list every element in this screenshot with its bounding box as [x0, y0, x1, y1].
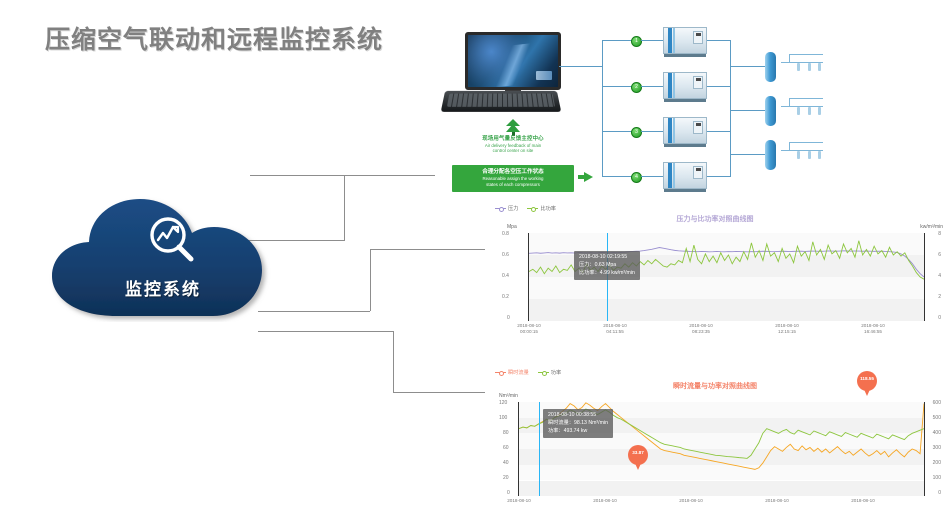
y-tick: 100	[499, 415, 507, 421]
tooltip-line-2: 功率：493.74 kw	[548, 428, 608, 436]
x-tick-time: 16:46:55	[843, 329, 903, 335]
strategy-en-2: states of each compressors	[452, 182, 574, 188]
legend-marker-icon	[495, 208, 506, 209]
pipe-riser	[789, 142, 790, 151]
air-tank	[765, 140, 776, 170]
compressor-unit[interactable]	[663, 162, 707, 192]
legend-marker-icon	[527, 208, 538, 209]
y-tick: 80	[503, 430, 509, 436]
x-tick-time: 12:15:15	[757, 329, 817, 335]
compressor-base	[664, 189, 706, 192]
status-node-1[interactable]: 1	[631, 36, 642, 47]
flow-chart-legend[interactable]: 瞬时流量 功率	[495, 369, 561, 376]
collector-to-tank-1	[730, 66, 766, 67]
pin-label: 33.87	[628, 450, 648, 455]
monitor-screen	[465, 32, 561, 90]
monitor-caption-en-2: control center on site	[452, 148, 574, 154]
y2-tick: 2	[938, 294, 941, 300]
flow-marker-min[interactable]: 33.87	[628, 445, 648, 471]
x-tick: 2018-08-10	[575, 498, 635, 504]
main-vertical-bus	[602, 40, 603, 177]
legend-item-power[interactable]: 功率	[538, 369, 561, 376]
collector-stub-2	[707, 86, 731, 87]
node-to-compressor-4	[641, 176, 663, 177]
air-tank	[765, 96, 776, 126]
pipe-drop	[818, 107, 821, 115]
y2-tick: 8	[938, 231, 941, 237]
connector-line-bottom-upper	[258, 331, 393, 332]
y2-tick: 0	[938, 315, 941, 321]
collector-vertical-bus	[730, 40, 731, 177]
flow-chart-title: 瞬时流量与功率对照曲线图	[605, 381, 825, 391]
tooltip-line-2: 比功率：4.99 kw/m³/min	[579, 270, 635, 278]
pin-label: 118.55	[857, 376, 877, 381]
y2-tick: 100	[933, 475, 941, 481]
magnifier-chart-icon	[146, 214, 198, 266]
air-tank	[765, 52, 776, 82]
compressor-stripe-light	[673, 163, 675, 188]
y2-tick: 6	[938, 252, 941, 258]
monitor-caption-zh: 现场用气量反馈主控中心	[452, 136, 574, 143]
keyboard	[441, 91, 562, 112]
tooltip-line-1: 瞬时流量：98.13 Nm³/min	[548, 420, 608, 428]
y2-tick: 500	[933, 415, 941, 421]
node-to-compressor-2	[641, 86, 663, 87]
connector-line-bottom-riser	[393, 331, 394, 392]
y-tick: 120	[499, 400, 507, 406]
flow-cursor-line[interactable]	[539, 402, 540, 496]
connector-line-bottom	[393, 392, 488, 393]
compressor-stripe-light	[673, 73, 675, 98]
compressor-base	[664, 99, 706, 102]
tooltip-timestamp: 2018-08-10 00:38:55	[548, 412, 608, 420]
system-diagram-panel: 现场用气量反馈主控中心 Air delivery feedback of mai…	[425, 18, 945, 203]
pipe-main	[781, 150, 823, 151]
legend-label: 压力	[508, 205, 518, 212]
y2-tick: 600	[933, 400, 941, 406]
y-tick: 60	[503, 445, 509, 451]
y-tick: 0.2	[502, 294, 509, 300]
pipe-upper	[789, 142, 823, 143]
compressor-unit[interactable]	[663, 117, 707, 147]
status-node-4[interactable]: 4	[631, 172, 642, 183]
cloud-label: 监控系统	[38, 275, 288, 300]
x-tick-date: 2018-08-10	[661, 498, 721, 504]
monitor-caption: 现场用气量反馈主控中心 Air delivery feedback of mai…	[452, 136, 574, 154]
pipe-upper	[789, 54, 823, 55]
legend-marker-icon	[538, 372, 549, 373]
pipe-riser	[789, 98, 790, 107]
compressor-stripe	[668, 28, 672, 53]
strategy-callout-box: 合理分配各空压工作状态 Reasonable assign the workin…	[452, 165, 574, 192]
y2-tick: 4	[938, 273, 941, 279]
pipe-main	[781, 62, 823, 63]
connector-line-mid	[370, 249, 485, 250]
pressure-chart-panel: 压力 比功率 压力与比功率对照曲线图 Mpa kw/m³/min 0.8 0.6…	[485, 203, 945, 335]
legend-label: 比功率	[540, 205, 556, 212]
compressor-stripe-light	[673, 28, 675, 53]
compressor-indicator	[696, 168, 701, 171]
y2-tick: 200	[933, 460, 941, 466]
legend-item-flow[interactable]: 瞬时流量	[495, 369, 529, 376]
compressor-base	[664, 54, 706, 57]
status-node-2[interactable]: 2	[631, 82, 642, 93]
x-tick-date: 2018-08-10	[489, 498, 549, 504]
x-tick: 2018-08-10 16:46:55	[843, 323, 903, 334]
tree-icon	[506, 119, 520, 135]
x-tick-time: 04:11:55	[585, 329, 645, 335]
y-tick: 0	[507, 490, 510, 496]
pin-head	[857, 371, 877, 391]
link-monitor-to-bus	[559, 66, 603, 67]
x-tick: 2018-08-10	[833, 498, 893, 504]
pipe-drop	[797, 107, 800, 115]
connector-line-top	[250, 175, 435, 176]
collector-stub-4	[707, 176, 731, 177]
pipe-network	[781, 94, 823, 122]
legend-label: 瞬时流量	[508, 369, 529, 376]
pipe-drop	[797, 63, 800, 71]
collector-to-tank-2	[730, 110, 766, 111]
slide-root: 压缩空气联动和远程监控系统	[0, 0, 945, 529]
x-tick: 2018-08-10 12:15:15	[757, 323, 817, 334]
screen-highlight	[474, 41, 558, 89]
compressor-indicator	[696, 33, 701, 36]
x-tick: 2018-08-10	[489, 498, 549, 504]
x-tick-time: 08:23:35	[671, 329, 731, 335]
pressure-y-axis-unit: Mpa	[507, 224, 517, 230]
pin-head	[628, 445, 648, 465]
collector-stub-3	[707, 131, 731, 132]
page-title: 压缩空气联动和远程监控系统	[45, 20, 383, 56]
tooltip-line-1: 压力：0.63 Mpa	[579, 262, 635, 270]
flow-y2-axis	[924, 402, 925, 496]
compressor-unit[interactable]	[663, 27, 707, 57]
compressor-indicator	[696, 78, 701, 81]
legend-item-pressure[interactable]: 压力	[495, 205, 518, 212]
flow-chart-panel: 瞬时流量 功率 瞬时流量与功率对照曲线图 Nm³/min 120 100 80 …	[485, 365, 945, 529]
pipe-network	[781, 138, 823, 166]
y-tick: 0.6	[502, 252, 509, 258]
tooltip-timestamp: 2018-08-10 02:19:55	[579, 254, 635, 262]
strategy-zh: 合理分配各空压工作状态	[452, 169, 574, 176]
y-tick: 20	[503, 475, 509, 481]
y2-tick: 300	[933, 445, 941, 451]
pipe-network	[781, 50, 823, 78]
connector-line-top-riser	[344, 175, 345, 240]
connector-line-mid-riser	[370, 249, 371, 311]
pipe-drop	[808, 151, 811, 159]
pressure-chart-legend[interactable]: 压力 比功率	[495, 205, 556, 212]
compressor-indicator	[696, 123, 701, 126]
screen-logo	[536, 71, 552, 80]
y2-tick: 400	[933, 430, 941, 436]
pipe-drop	[808, 107, 811, 115]
x-tick-time: 00:00:15	[499, 329, 559, 335]
status-node-3[interactable]: 3	[631, 127, 642, 138]
x-tick: 2018-08-10 08:23:35	[671, 323, 731, 334]
pipe-drop	[797, 151, 800, 159]
pipe-upper	[789, 98, 823, 99]
node-to-compressor-3	[641, 131, 663, 132]
pressure-y2-axis-unit: kw/m³/min	[920, 224, 943, 230]
x-tick: 2018-08-10 04:11:55	[585, 323, 645, 334]
arrow-right-icon	[584, 172, 593, 182]
y2-tick: 0	[938, 490, 941, 496]
pipe-drop	[818, 63, 821, 71]
flow-y-axis-unit: Nm³/min	[499, 393, 518, 399]
legend-marker-icon	[495, 372, 506, 373]
compressor-stripe	[668, 163, 672, 188]
compressor-stripe	[668, 73, 672, 98]
x-tick: 2018-08-10 00:00:15	[499, 323, 559, 334]
x-tick-date: 2018-08-10	[575, 498, 635, 504]
compressor-stripe-light	[673, 118, 675, 143]
x-tick-date: 2018-08-10	[747, 498, 807, 504]
compressor-base	[664, 144, 706, 147]
x-tick-date: 2018-08-10	[833, 498, 893, 504]
legend-item-specific-power[interactable]: 比功率	[527, 205, 556, 212]
pressure-y2-axis	[924, 233, 925, 321]
y-tick: 0.8	[502, 231, 509, 237]
collector-to-tank-3	[730, 154, 766, 155]
legend-label: 功率	[551, 369, 561, 376]
flow-tooltip: 2018-08-10 00:38:55 瞬时流量：98.13 Nm³/min 功…	[543, 409, 613, 438]
pipe-drop	[818, 151, 821, 159]
keyboard-keys	[447, 94, 555, 107]
x-tick: 2018-08-10	[747, 498, 807, 504]
pressure-chart-title: 压力与比功率对照曲线图	[605, 214, 825, 224]
pipe-main	[781, 106, 823, 107]
pipe-riser	[789, 54, 790, 63]
monitoring-cloud[interactable]: 监控系统	[38, 192, 288, 322]
compressor-stripe	[668, 118, 672, 143]
flow-marker-max[interactable]: 118.55	[857, 371, 877, 397]
pipe-drop	[808, 63, 811, 71]
y-tick: 0	[507, 315, 510, 321]
compressor-unit[interactable]	[663, 72, 707, 102]
y-tick: 40	[503, 460, 509, 466]
collector-stub-1	[707, 40, 731, 41]
y-tick: 0.4	[502, 273, 509, 279]
x-tick: 2018-08-10	[661, 498, 721, 504]
node-to-compressor-1	[641, 40, 663, 41]
pressure-tooltip: 2018-08-10 02:19:55 压力：0.63 Mpa 比功率：4.99…	[574, 251, 640, 280]
